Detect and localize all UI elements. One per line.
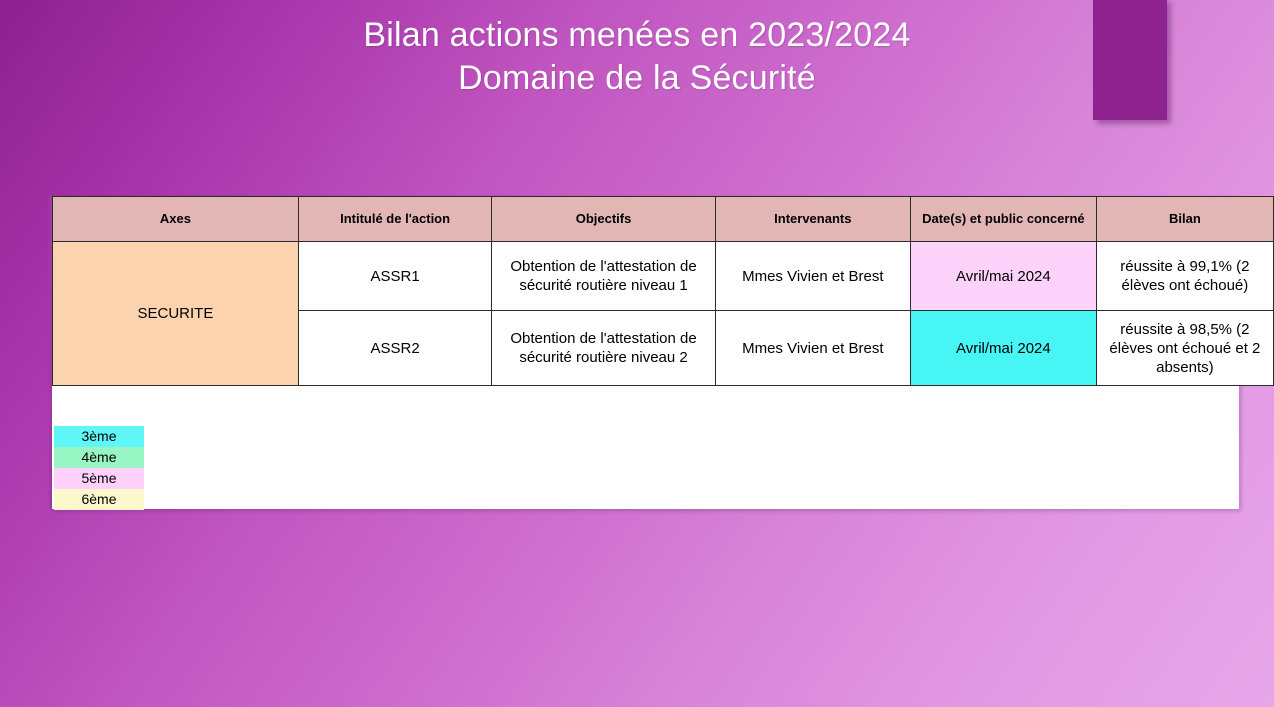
legend-item-4eme: 4ème	[54, 447, 144, 468]
table-header-row: Axes Intitulé de l'action Objectifs Inte…	[53, 197, 1274, 242]
title-line-2: Domaine de la Sécurité	[0, 57, 1274, 100]
column-header-axes: Axes	[53, 197, 299, 242]
cell-bilan-assr1: réussite à 99,1% (2 élèves ont échoué)	[1096, 242, 1273, 311]
page-title: Bilan actions menées en 2023/2024 Domain…	[0, 14, 1274, 100]
cell-intervenants-assr2: Mmes Vivien et Brest	[715, 311, 910, 386]
column-header-intervenants: Intervenants	[715, 197, 910, 242]
cell-date-assr1: Avril/mai 2024	[910, 242, 1096, 311]
column-header-dates: Date(s) et public concerné	[910, 197, 1096, 242]
column-header-bilan: Bilan	[1096, 197, 1273, 242]
column-header-intitule: Intitulé de l'action	[298, 197, 492, 242]
cell-action-assr2: ASSR2	[298, 311, 492, 386]
column-header-objectifs: Objectifs	[492, 197, 715, 242]
grade-legend: 3ème 4ème 5ème 6ème	[54, 426, 144, 510]
cell-action-assr1: ASSR1	[298, 242, 492, 311]
legend-item-6eme: 6ème	[54, 489, 144, 510]
cell-bilan-assr2: réussite à 98,5% (2 élèves ont échoué et…	[1096, 311, 1273, 386]
actions-table: Axes Intitulé de l'action Objectifs Inte…	[52, 196, 1274, 386]
cell-axes-securite: SECURITE	[53, 242, 299, 386]
title-line-1: Bilan actions menées en 2023/2024	[0, 14, 1274, 57]
legend-item-5eme: 5ème	[54, 468, 144, 489]
cell-intervenants-assr1: Mmes Vivien et Brest	[715, 242, 910, 311]
cell-date-assr2: Avril/mai 2024	[910, 311, 1096, 386]
cell-objectif-assr2: Obtention de l'attestation de sécurité r…	[492, 311, 715, 386]
cell-objectif-assr1: Obtention de l'attestation de sécurité r…	[492, 242, 715, 311]
table-row: SECURITE ASSR1 Obtention de l'attestatio…	[53, 242, 1274, 311]
legend-item-3eme: 3ème	[54, 426, 144, 447]
slide-canvas: Bilan actions menées en 2023/2024 Domain…	[0, 0, 1274, 707]
